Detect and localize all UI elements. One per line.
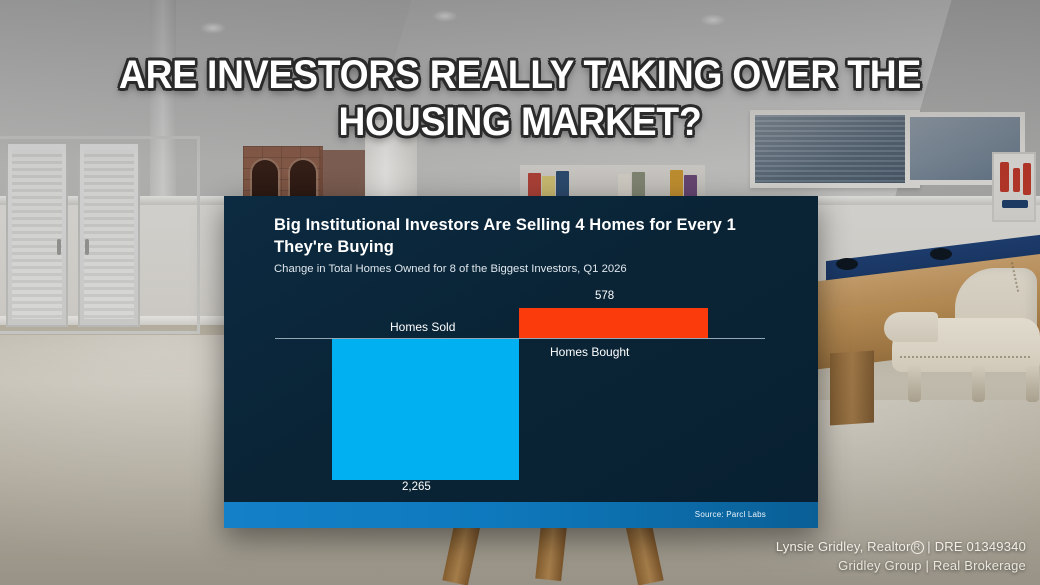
category-label-homes-sold: Homes Sold <box>390 320 455 334</box>
registered-trademark-icon: R <box>911 541 924 554</box>
social-media-graphic: ARE INVESTORS REALLY TAKING OVER THE HOU… <box>0 0 1040 585</box>
license-number: | DRE 01349340 <box>924 539 1027 554</box>
chart-card: Big Institutional Investors Are Selling … <box>224 196 818 528</box>
value-label-homes-bought: 578 <box>595 290 614 302</box>
attribution-line-2: Gridley Group | Real Brokerage <box>776 556 1026 575</box>
bar-homes-sold <box>332 339 519 480</box>
agent-attribution: Lynsie Gridley, RealtorR | DRE 01349340 … <box>776 537 1026 575</box>
bar-homes-bought <box>519 308 708 339</box>
value-label-homes-sold: 2,265 <box>402 481 431 493</box>
chart-footer-band: Source: Parcl Labs <box>224 502 818 528</box>
category-label-homes-bought: Homes Bought <box>550 345 629 359</box>
zero-axis-line <box>275 338 765 339</box>
chart-source-label: Source: Parcl Labs <box>695 510 766 519</box>
agent-name: Lynsie Gridley, Realtor <box>776 539 911 554</box>
page-title: ARE INVESTORS REALLY TAKING OVER THE HOU… <box>83 52 957 146</box>
chart-plot-area: 578 2,265 Homes Sold Homes Bought <box>224 196 818 502</box>
attribution-line-1: Lynsie Gridley, RealtorR | DRE 01349340 <box>776 537 1026 556</box>
